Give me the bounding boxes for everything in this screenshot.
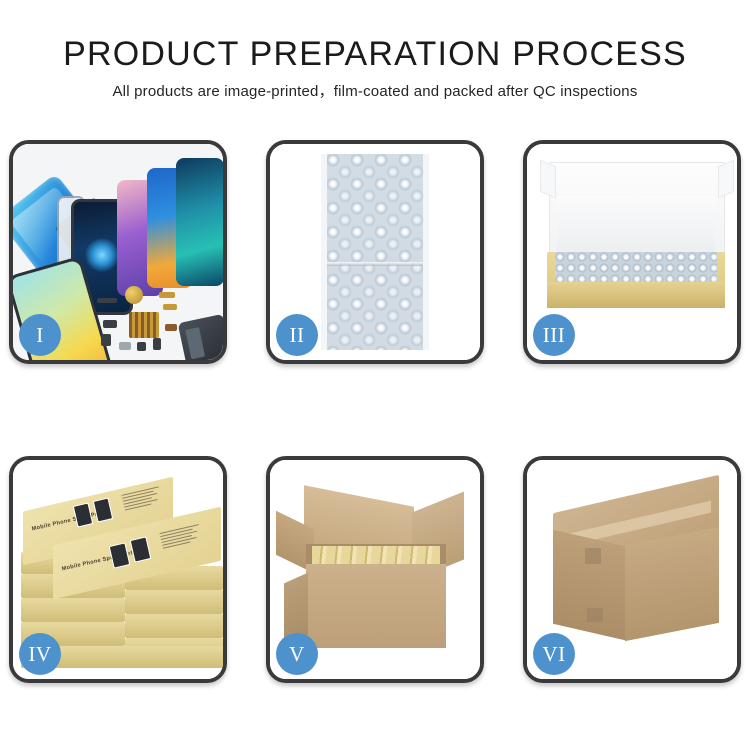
flex-cable-icon — [159, 292, 175, 298]
process-step-1: I — [9, 140, 227, 364]
product-preparation-process-infographic: PRODUCT PREPARATION PROCESS All products… — [0, 0, 750, 750]
carton-right-face — [625, 527, 719, 641]
phone-motherboard-icon — [178, 314, 223, 360]
carton-flap-tab — [585, 548, 601, 564]
circuit-chip-icon — [129, 312, 159, 338]
camera-part-icon — [103, 320, 117, 328]
step-badge-1: I — [19, 314, 61, 356]
step-badge-2: II — [276, 314, 318, 356]
carton-front-face — [306, 564, 446, 648]
teal-phone-icon — [176, 158, 223, 286]
bubble-texture — [327, 154, 423, 350]
box-side — [21, 598, 125, 622]
process-step-5: V — [266, 456, 484, 683]
process-step-6: VI — [523, 456, 741, 683]
box-side — [125, 590, 223, 614]
kraft-tray-front — [547, 282, 725, 308]
speaker-part-icon — [125, 286, 143, 304]
bracket-part-icon — [119, 342, 131, 350]
process-step-4: Mobile Phone Spare Parts Mobile Phone Sp… — [9, 456, 227, 683]
step-badge-6: VI — [533, 633, 575, 675]
header: PRODUCT PREPARATION PROCESS All products… — [0, 34, 750, 102]
step-badge-3: III — [533, 314, 575, 356]
button-part-icon — [101, 334, 111, 346]
flex-cable-icon — [163, 304, 177, 310]
bubble-wrap-bag-icon — [321, 154, 429, 350]
spare-parts-group — [97, 284, 223, 360]
step-badge-5: V — [276, 633, 318, 675]
process-step-3: III — [523, 140, 741, 364]
carton-flap-tab — [587, 608, 603, 622]
bag-seam — [327, 262, 423, 266]
box-side — [125, 614, 223, 638]
antenna-part-icon — [165, 324, 177, 331]
process-step-2: II — [266, 140, 484, 364]
sim-tray-icon — [153, 338, 161, 350]
process-step-grid: I II — [9, 140, 741, 683]
carton-left-face — [553, 530, 625, 641]
connector-part-icon — [97, 298, 117, 303]
vibrator-part-icon — [137, 342, 146, 351]
bubble-wrapped-contents-icon — [555, 252, 717, 284]
page-title: PRODUCT PREPARATION PROCESS — [0, 34, 750, 74]
foam-insert-icon — [557, 196, 715, 254]
step-badge-4: IV — [19, 633, 61, 675]
page-subtitle: All products are image-printed，film-coat… — [0, 82, 750, 102]
